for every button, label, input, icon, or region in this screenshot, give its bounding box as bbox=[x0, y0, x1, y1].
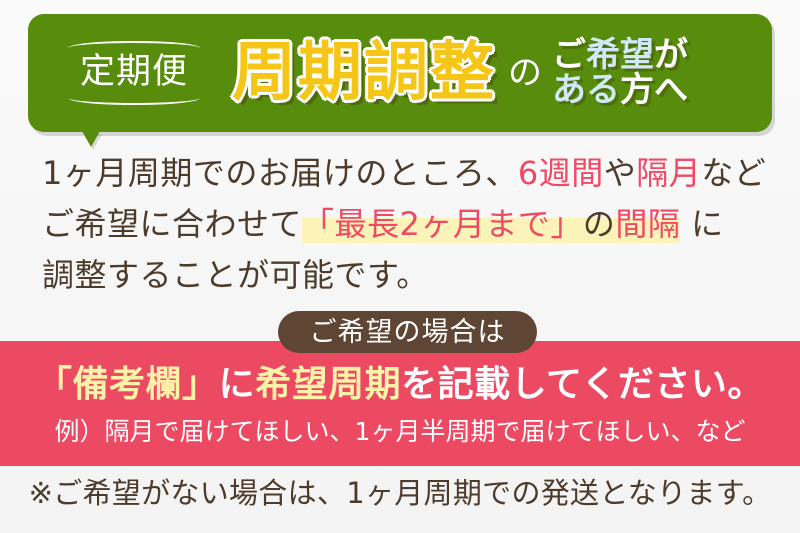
body-line-1: 1ヶ月周期でのお届けのところ、6週間や隔月など bbox=[42, 148, 772, 199]
condition-badge-label: ご希望の場合は bbox=[310, 319, 506, 346]
instruction-headline-seg-d: を記載してください。 bbox=[401, 364, 764, 405]
decorative-rule-top bbox=[68, 39, 200, 49]
footnote-text: ※ご希望がない場合は、1ヶ月周期での発送となります。 bbox=[0, 478, 800, 508]
subscription-badge: 定期便 bbox=[58, 39, 210, 108]
header-content: 定期便 周期調整 の ご希望が ある方へ bbox=[28, 14, 772, 132]
body-line-1-seg-d: 隔月 bbox=[636, 154, 701, 192]
body-line-2-seg-e: に bbox=[680, 205, 723, 243]
instruction-headline-seg-b: に bbox=[219, 364, 256, 405]
header-bubble: 定期便 周期調整 の ご希望が ある方へ bbox=[28, 14, 772, 132]
wish-subtitle-seg-2b: 方へ bbox=[620, 70, 688, 110]
body-line-1-seg-c: や bbox=[604, 154, 637, 192]
promotional-banner: 定期便 周期調整 の ご希望が ある方へ 1ヶ月周期でのお届けのところ、6週間や… bbox=[0, 0, 800, 533]
instruction-example: 例）隔月で届けてほしい、1ヶ月半周期で届けてほしい、など bbox=[0, 419, 800, 445]
wish-subtitle-line-2: ある方へ bbox=[552, 73, 688, 108]
body-line-2-seg-d: 間隔 bbox=[615, 205, 680, 243]
condition-badge: ご希望の場合は bbox=[278, 311, 537, 353]
subscription-badge-label: 定期便 bbox=[80, 49, 188, 98]
body-line-2-seg-a: ご希望に合わせて bbox=[42, 205, 302, 243]
instruction-headline-seg-c: 希望周期 bbox=[255, 364, 401, 405]
instruction-band: 「備考欄」に希望周期を記載してください。 例）隔月で届けてほしい、1ヶ月半周期で… bbox=[0, 341, 800, 466]
decorative-rule-bottom bbox=[68, 97, 200, 107]
wish-subtitle: ご希望が ある方へ bbox=[552, 38, 688, 107]
instruction-headline: 「備考欄」に希望周期を記載してください。 bbox=[0, 366, 800, 404]
speech-bubble-tail bbox=[82, 131, 100, 147]
body-line-2-seg-c: の bbox=[583, 205, 616, 243]
body-line-3: 調整することが可能です。 bbox=[42, 250, 772, 301]
body-line-1-seg-a: 1ヶ月周期でのお届けのところ、 bbox=[42, 154, 518, 192]
page-title: 周期調整 bbox=[232, 41, 496, 105]
body-line-1-seg-e: など bbox=[701, 154, 766, 192]
body-line-1-seg-b: 6週間 bbox=[518, 154, 604, 192]
title-particle: の bbox=[508, 56, 542, 90]
wish-subtitle-line-1: ご希望が bbox=[552, 38, 688, 73]
body-line-2-seg-b: 「最長2ヶ月まで」 bbox=[302, 205, 583, 243]
body-line-2: ご希望に合わせて「最長2ヶ月まで」の間隔 に bbox=[42, 199, 772, 250]
wish-subtitle-seg-2a: ある bbox=[552, 70, 620, 110]
instruction-headline-seg-a: 「備考欄」 bbox=[36, 364, 219, 405]
body-paragraph: 1ヶ月周期でのお届けのところ、6週間や隔月など ご希望に合わせて「最長2ヶ月まで… bbox=[42, 148, 772, 301]
